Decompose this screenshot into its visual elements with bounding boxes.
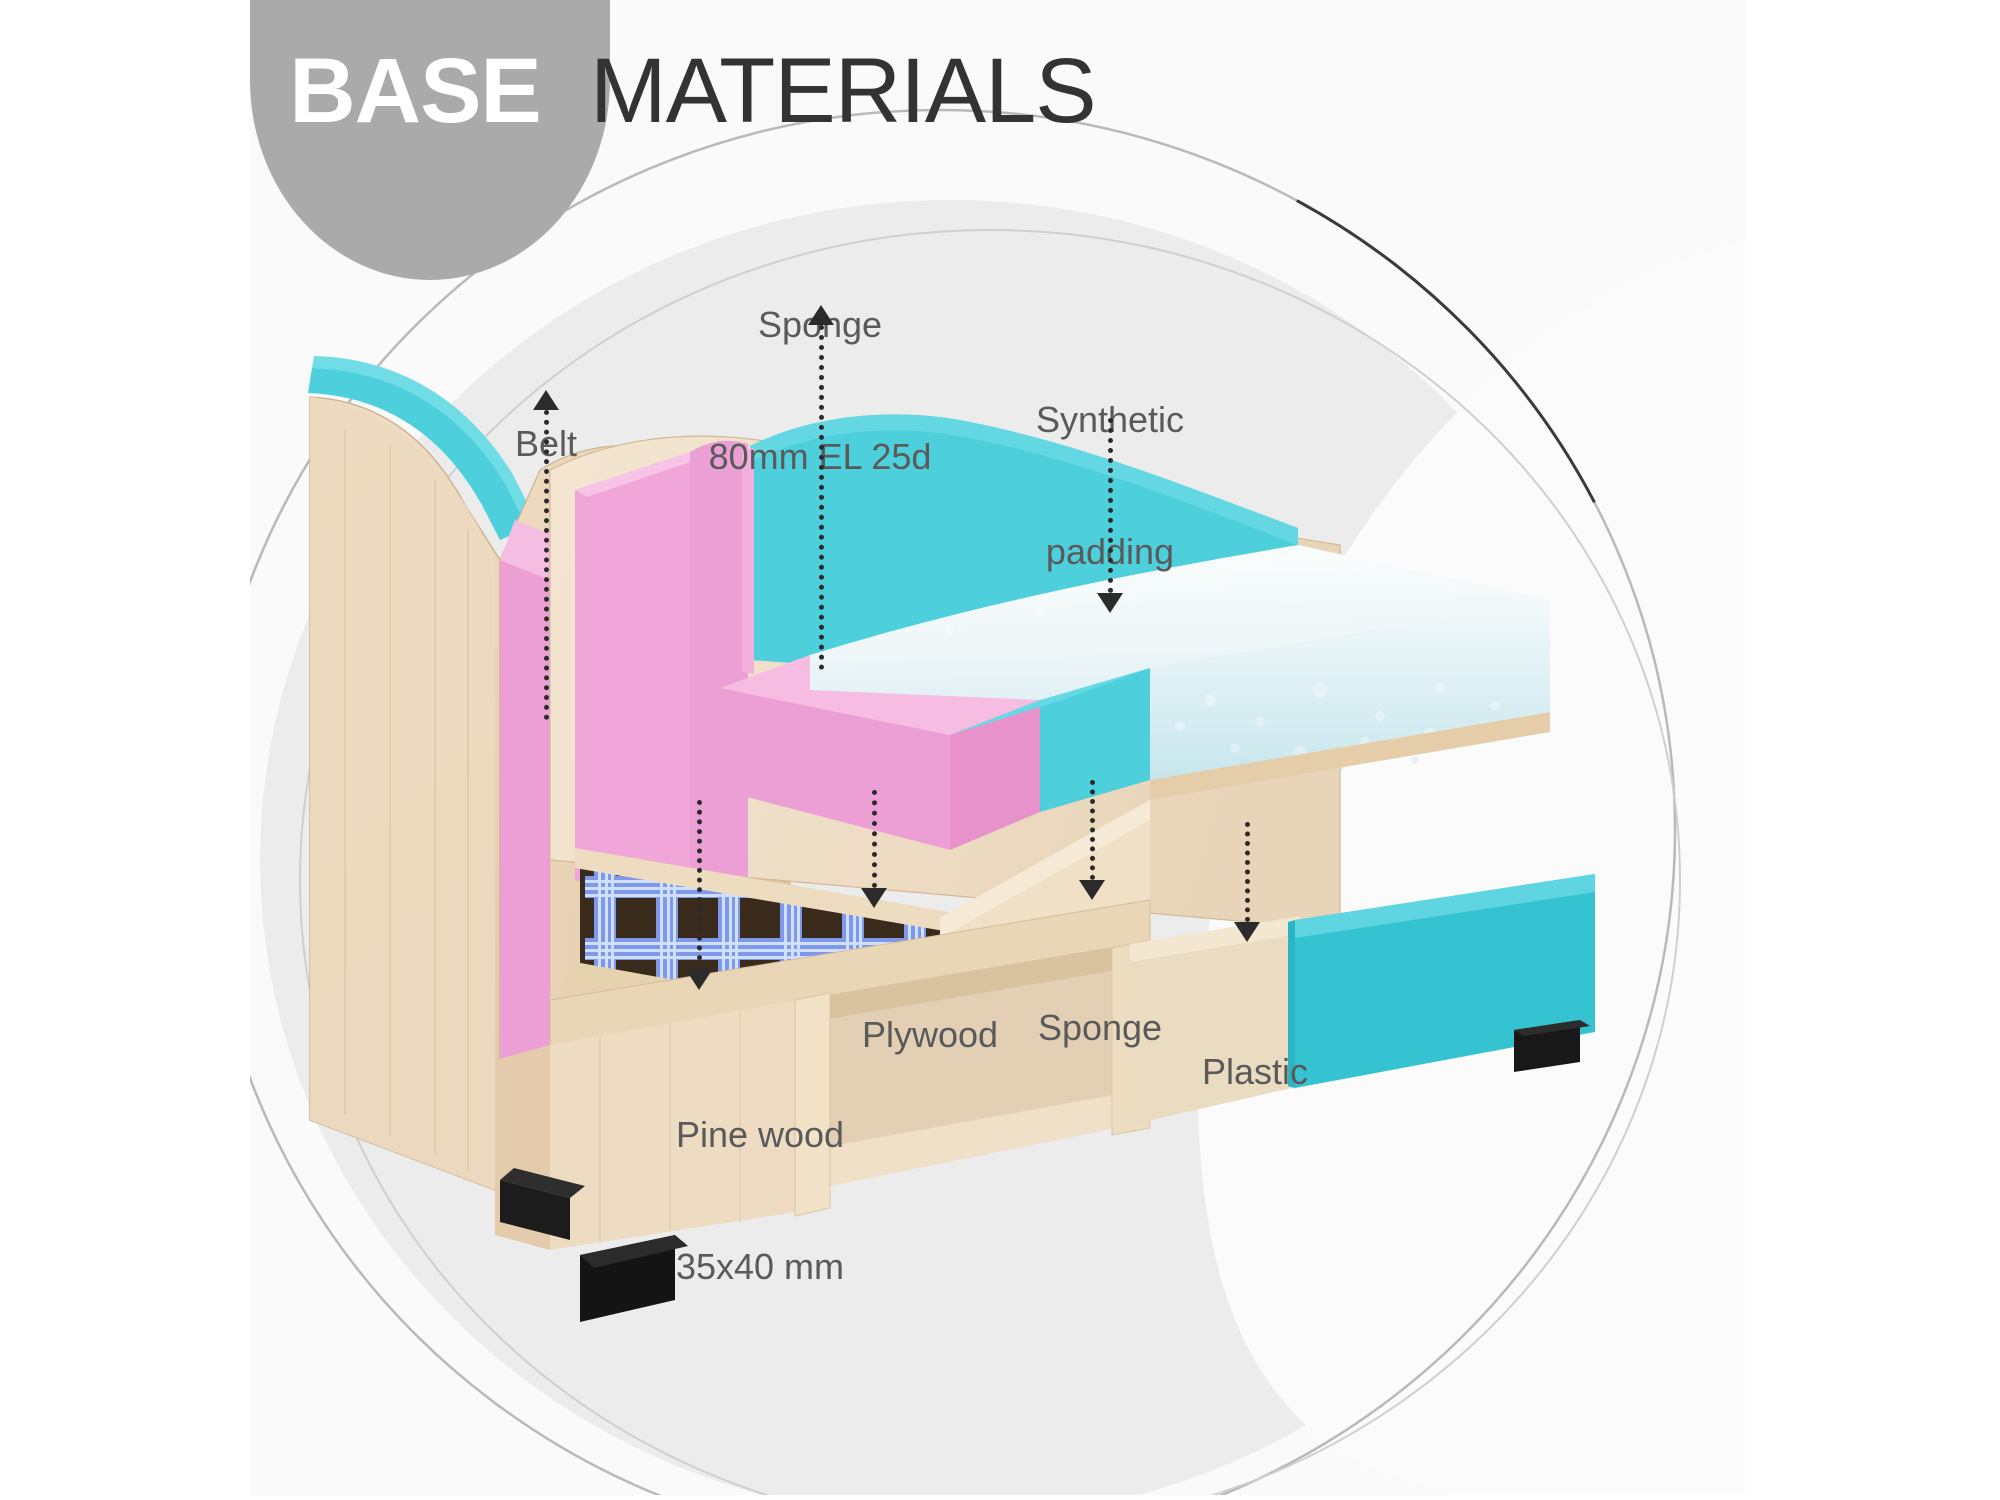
leader-arrow-belt [533, 390, 559, 410]
leader-line-plywood [872, 790, 877, 888]
leader-arrow-sponge [1079, 880, 1105, 900]
leader-arrow-synthetic-padding [1097, 593, 1123, 613]
leader-arrow-sponge-80mm [808, 305, 834, 325]
label-plastic: Plastic [1130, 962, 1380, 1182]
poster-stage: BASE MATERIALS [0, 0, 2000, 1500]
leader-line-synthetic-padding [1108, 418, 1113, 593]
poster-canvas: BASE MATERIALS [250, 0, 1745, 1495]
leader-line-belt [544, 410, 549, 720]
sofa-cutaway-illustration [250, 0, 1745, 1495]
leader-line-sponge [1090, 780, 1095, 880]
label-pine-wood-line1: Pine wood [580, 1113, 940, 1157]
label-plastic-line1: Plastic [1130, 1050, 1380, 1094]
leader-line-pine-wood [697, 800, 702, 970]
leader-line-sponge-80mm [819, 325, 824, 670]
leader-arrow-plywood [861, 888, 887, 908]
leader-arrow-plastic [1234, 922, 1260, 942]
label-pine-wood-line2: 35x40 mm [580, 1245, 940, 1289]
leader-line-plastic [1245, 822, 1250, 922]
leader-arrow-pine-wood [686, 970, 712, 990]
label-pine-wood: Pine wood 35x40 mm [580, 1025, 940, 1376]
